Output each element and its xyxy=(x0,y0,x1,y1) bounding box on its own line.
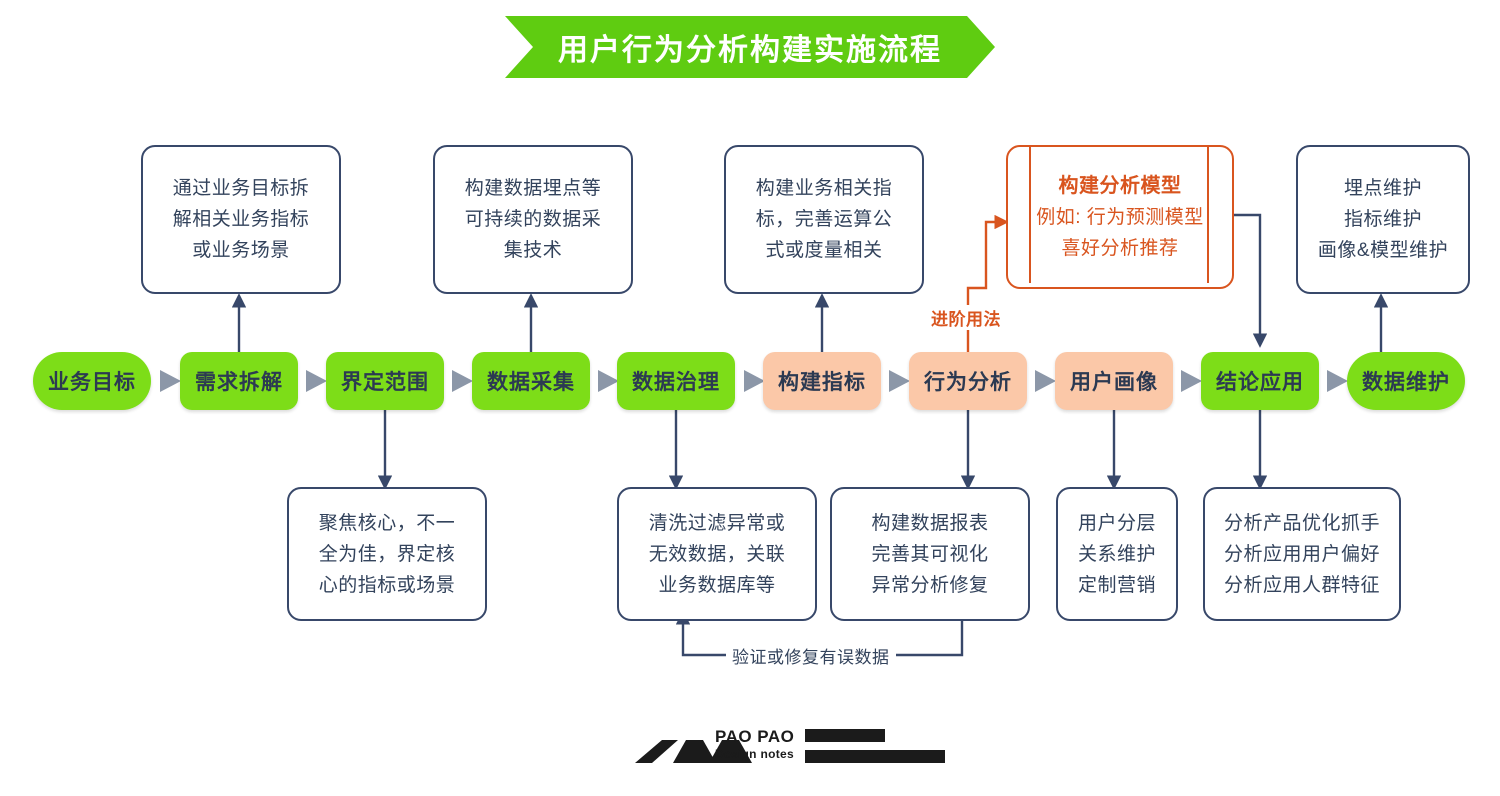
note-line: 喜好分析推荐 xyxy=(1061,233,1178,264)
note-build-metrics: 构建业务相关指 标，完善运算公 式或度量相关 xyxy=(724,145,924,294)
note-analysis-model-inner-bar-right xyxy=(1207,147,1209,283)
flow-step-label: 行为分析 xyxy=(924,366,1012,396)
flow-step-label: 结论应用 xyxy=(1216,366,1304,396)
note-line: 构建数据报表 xyxy=(871,508,988,539)
note-requirement-breakdown: 通过业务目标拆 解相关业务指标 或业务场景 xyxy=(141,145,341,294)
flow-step-build-metrics[interactable]: 构建指标 xyxy=(763,352,881,410)
note-line: 清洗过滤异常或 xyxy=(649,508,786,539)
note-line: 分析产品优化抓手 xyxy=(1224,508,1380,539)
note-line: 定制营销 xyxy=(1078,570,1156,601)
footer-logo: PAO PAO Design notes xyxy=(615,725,885,771)
note-behavior-analysis: 构建数据报表 完善其可视化 异常分析修复 xyxy=(830,487,1030,621)
edge-label-advanced-usage: 进阶用法 xyxy=(925,305,1007,330)
note-line: 无效数据，关联 xyxy=(649,539,786,570)
note-data-collection: 构建数据埋点等 可持续的数据采 集技术 xyxy=(433,145,633,294)
flow-step-data-collection[interactable]: 数据采集 xyxy=(472,352,590,410)
note-line: 构建业务相关指 xyxy=(756,173,893,204)
note-line: 埋点维护 xyxy=(1344,173,1422,204)
note-user-profile: 用户分层 关系维护 定制营销 xyxy=(1056,487,1178,621)
note-analysis-model-inner-bar-left xyxy=(1029,147,1031,283)
note-data-governance: 清洗过滤异常或 无效数据，关联 业务数据库等 xyxy=(617,487,817,621)
note-line: 关系维护 xyxy=(1078,539,1156,570)
note-line: 完善其可视化 xyxy=(871,539,988,570)
flow-step-label: 数据维护 xyxy=(1362,366,1450,396)
note-analysis-model: 构建分析模型 例如: 行为预测模型 喜好分析推荐 xyxy=(1006,145,1234,289)
note-heading: 构建分析模型 xyxy=(1059,171,1182,202)
note-line: 异常分析修复 xyxy=(871,570,988,601)
flow-step-label: 需求拆解 xyxy=(195,366,283,396)
note-line: 分析应用用户偏好 xyxy=(1224,539,1380,570)
note-line: 心的指标或场景 xyxy=(319,570,456,601)
flow-step-conclusion-application[interactable]: 结论应用 xyxy=(1201,352,1319,410)
flow-step-user-profile[interactable]: 用户画像 xyxy=(1055,352,1173,410)
logo-subtitle: Design notes xyxy=(715,747,794,761)
note-line: 全为佳，界定核 xyxy=(319,539,456,570)
note-line: 通过业务目标拆 xyxy=(173,173,310,204)
note-data-maintenance: 埋点维护 指标维护 画像&模型维护 xyxy=(1296,145,1470,294)
flow-step-label: 数据采集 xyxy=(487,366,575,396)
flow-step-label: 业务目标 xyxy=(48,366,136,396)
diagram-canvas: 用户行为分析构建实施流程 xyxy=(0,0,1500,796)
note-line: 用户分层 xyxy=(1078,508,1156,539)
flow-step-label: 构建指标 xyxy=(778,366,866,396)
note-line: 解相关业务指标 xyxy=(173,204,310,235)
flow-step-behavior-analysis[interactable]: 行为分析 xyxy=(909,352,1027,410)
note-line: 例如: 行为预测模型 xyxy=(1036,202,1204,233)
note-line: 可持续的数据采 xyxy=(465,204,602,235)
flow-step-business-goal[interactable]: 业务目标 xyxy=(33,352,151,410)
flow-step-label: 界定范围 xyxy=(341,366,429,396)
logo-brand: PAO PAO xyxy=(715,727,794,747)
note-line: 集技术 xyxy=(504,235,563,266)
flow-step-define-scope[interactable]: 界定范围 xyxy=(326,352,444,410)
edge-label-feedback-loop: 验证或修复有误数据 xyxy=(726,643,896,668)
flow-step-data-governance[interactable]: 数据治理 xyxy=(617,352,735,410)
logo-bar-top xyxy=(805,729,885,742)
note-line: 分析应用人群特征 xyxy=(1224,570,1380,601)
note-line: 画像&模型维护 xyxy=(1318,235,1448,266)
note-line: 业务数据库等 xyxy=(658,570,775,601)
note-line: 标，完善运算公 xyxy=(756,204,893,235)
logo-bar-bottom xyxy=(805,750,945,763)
note-line: 式或度量相关 xyxy=(765,235,882,266)
note-conclusion-application: 分析产品优化抓手 分析应用用户偏好 分析应用人群特征 xyxy=(1203,487,1401,621)
note-line: 指标维护 xyxy=(1344,204,1422,235)
note-define-scope: 聚焦核心，不一 全为佳，界定核 心的指标或场景 xyxy=(287,487,487,621)
flow-step-requirement-breakdown[interactable]: 需求拆解 xyxy=(180,352,298,410)
flow-step-label: 用户画像 xyxy=(1070,366,1158,396)
note-line: 构建数据埋点等 xyxy=(465,173,602,204)
flow-step-label: 数据治理 xyxy=(632,366,720,396)
note-line: 或业务场景 xyxy=(192,235,290,266)
flow-step-data-maintenance[interactable]: 数据维护 xyxy=(1347,352,1465,410)
note-line: 聚焦核心，不一 xyxy=(319,508,456,539)
